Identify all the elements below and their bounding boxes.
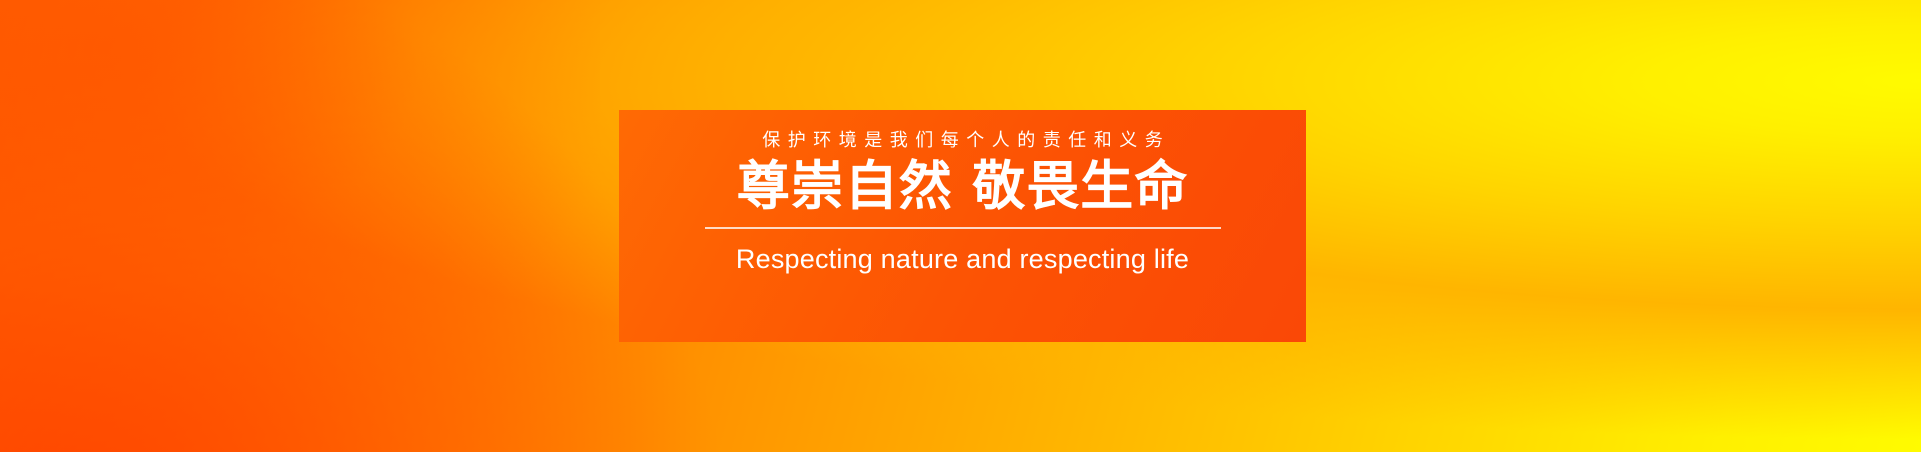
slogan-divider [705,227,1221,229]
slogan-subtitle-english: Respecting nature and respecting life [736,246,1189,273]
environmental-slogan-banner: 保护环境是我们每个人的责任和义务 尊崇自然 敬畏生命 Respecting na… [0,0,1921,452]
slogan-panel: 保护环境是我们每个人的责任和义务 尊崇自然 敬畏生命 Respecting na… [619,110,1306,342]
background-glow-top-left [0,0,600,420]
slogan-subheading-chinese: 保护环境是我们每个人的责任和义务 [755,132,1171,150]
slogan-headline-chinese: 尊崇自然 敬畏生命 [737,159,1188,215]
background-glow-bottom-left [0,0,720,452]
